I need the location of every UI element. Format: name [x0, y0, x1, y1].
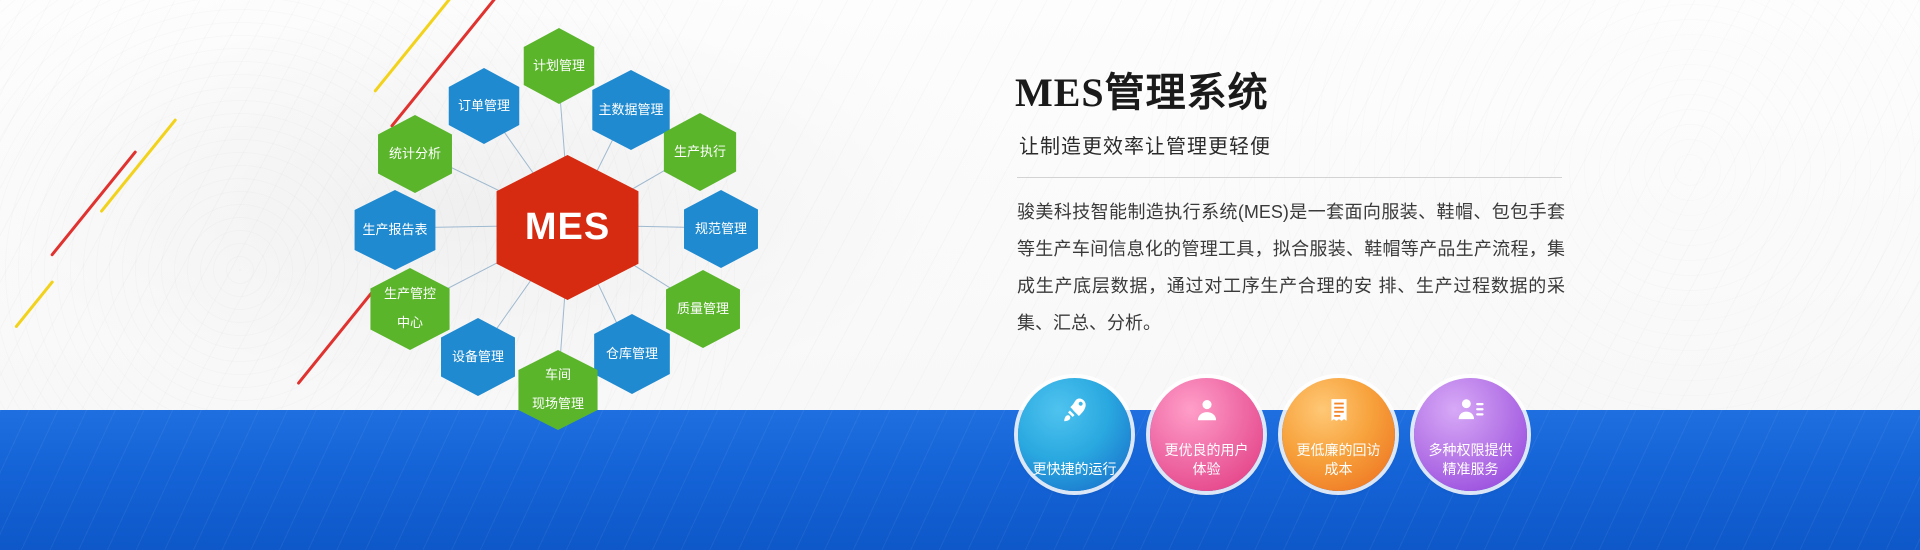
badge-permissions[interactable]: 多种权限提供 精准服务 [1414, 378, 1527, 491]
hex-label-warehouse: 仓库管理 [602, 347, 662, 362]
hex-label-control-center-line2: 中心 [380, 316, 440, 331]
hex-label-workshop-line1: 车间 [528, 368, 588, 383]
description-paragraph: 骏美科技智能制造执行系统(MES)是一套面向服装、鞋帽、包包手套等生产车间信息化… [1017, 194, 1565, 342]
hex-label-control-center-line1: 生产管控 [380, 287, 440, 302]
page-subtitle: 让制造更效率让管理更轻便 [1019, 130, 1615, 159]
badge-label-3-line2: 成本 [1325, 461, 1353, 477]
text-block: MES管理系统 让制造更效率让管理更轻便 骏美科技智能制造执行系统(MES)是一… [1015, 60, 1615, 342]
mes-hex-diagram: MES 计划管理 订单管理 主数据管理 统计分析 生产执行 生产报告表 规范管理… [330, 10, 810, 430]
user-icon [1192, 395, 1222, 425]
hex-label-equipment: 设备管理 [448, 350, 508, 365]
hex-label-execution: 生产执行 [670, 145, 730, 160]
people-icon [1456, 395, 1486, 425]
banner-root: MES 计划管理 订单管理 主数据管理 统计分析 生产执行 生产报告表 规范管理… [0, 0, 1920, 550]
background-bottom-band [0, 410, 1920, 550]
page-title: MES管理系统 [1015, 60, 1615, 118]
badge-lower-cost[interactable]: 更低廉的回访 成本 [1282, 378, 1395, 491]
hex-label-report: 生产报告表 [358, 223, 431, 238]
badge-better-experience[interactable]: 更优良的用户 体验 [1150, 378, 1263, 491]
badge-label-4-line2: 精准服务 [1443, 461, 1499, 477]
badge-label-1-line1: 更快捷的运行 [1033, 461, 1117, 477]
badge-label-2-line1: 更优良的用户 [1165, 442, 1249, 458]
hex-label-standard: 规范管理 [691, 222, 751, 237]
hex-label-statistics: 统计分析 [385, 147, 445, 162]
rocket-icon [1060, 395, 1090, 425]
hex-label-masterdata: 主数据管理 [594, 103, 667, 118]
hex-label-workshop-line2: 现场管理 [528, 397, 588, 412]
invoice-icon [1324, 395, 1354, 425]
feature-badge-list: 更快捷的运行 更优良的用户 体验 [1018, 378, 1527, 491]
badge-faster-operation[interactable]: 更快捷的运行 [1018, 378, 1131, 491]
badge-label-4-line1: 多种权限提供 [1429, 442, 1513, 458]
hex-label-order: 订单管理 [454, 99, 514, 114]
badge-label-3-line1: 更低廉的回访 [1297, 442, 1381, 458]
hex-label-planning: 计划管理 [529, 59, 589, 74]
divider [1017, 177, 1562, 178]
hex-label-quality: 质量管理 [673, 302, 733, 317]
hex-center-label: MES [521, 206, 614, 250]
badge-label-2-line2: 体验 [1193, 461, 1221, 477]
